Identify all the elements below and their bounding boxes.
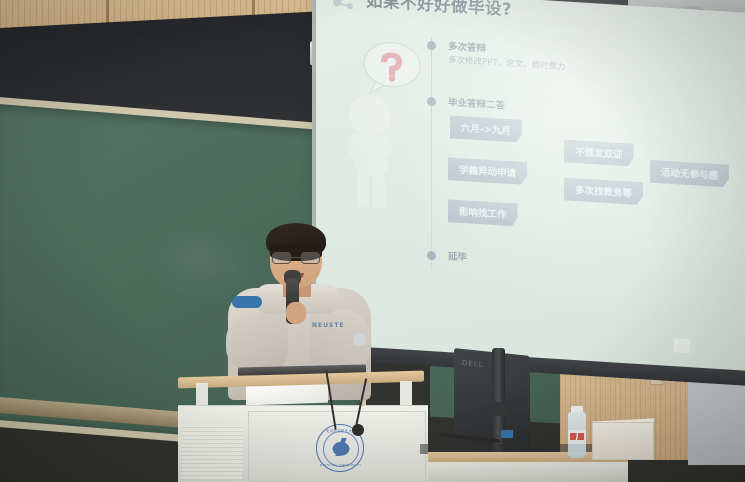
glasses-icon (272, 252, 320, 264)
thinking-figure-illustration (340, 35, 424, 218)
podium-vent-grille (182, 424, 242, 480)
presenter-blue-accent (232, 296, 262, 308)
screen-pull-tab (674, 338, 690, 353)
bottle-label (568, 430, 586, 444)
blue-connector (501, 430, 513, 438)
presenter-left-arm (226, 314, 288, 370)
side-desk-front (428, 462, 628, 482)
monitor-arm-joint (487, 402, 509, 416)
share-nodes-icon (330, 0, 360, 17)
jacket-logo-text: NEUSTE (312, 322, 345, 329)
emblem-bottom-text: BEIHANG UNIVERSITY (317, 463, 365, 467)
timeline-axis (431, 37, 432, 269)
screen-surface: 如果不好好做毕设? (316, 0, 745, 375)
timeline-subtext-1: 多次修改PPT、论文、费时费力 (448, 53, 565, 72)
slide-chip: 不颁发双证 (564, 139, 634, 166)
timeline-heading-3: 延毕 (448, 248, 467, 263)
slide-chip: 六月->九月 (450, 115, 522, 142)
timeline-dot-1 (427, 41, 436, 51)
projector-screen: 如果不好好做毕设? (316, 0, 745, 399)
slide-title: 如果不好好做毕设? (366, 0, 512, 20)
timeline-dot-3 (427, 251, 436, 261)
slide-chip: 多次找教务等 (564, 177, 643, 205)
presenter-hand (286, 302, 306, 324)
slide-chip: 学籍异动申请 (448, 157, 527, 185)
slide-content: 如果不好好做毕设? (316, 0, 745, 347)
jacket-patch (354, 334, 365, 345)
emblem-mark (328, 438, 354, 456)
classroom-presentation-screenshot: 如果不好好做毕设? (0, 0, 745, 482)
microphone-base (352, 424, 364, 436)
timeline-dot-2 (427, 97, 436, 107)
cardboard-box[interactable] (592, 422, 654, 460)
timeline-heading-2: 毕业答辩二答 (448, 94, 505, 112)
podium-leg-right (400, 381, 412, 407)
timeline-heading-1: 多次答辩 (448, 38, 486, 54)
slide-chip: 影响找工作 (448, 199, 518, 226)
slide-chip: 活动无参与感 (650, 160, 729, 188)
